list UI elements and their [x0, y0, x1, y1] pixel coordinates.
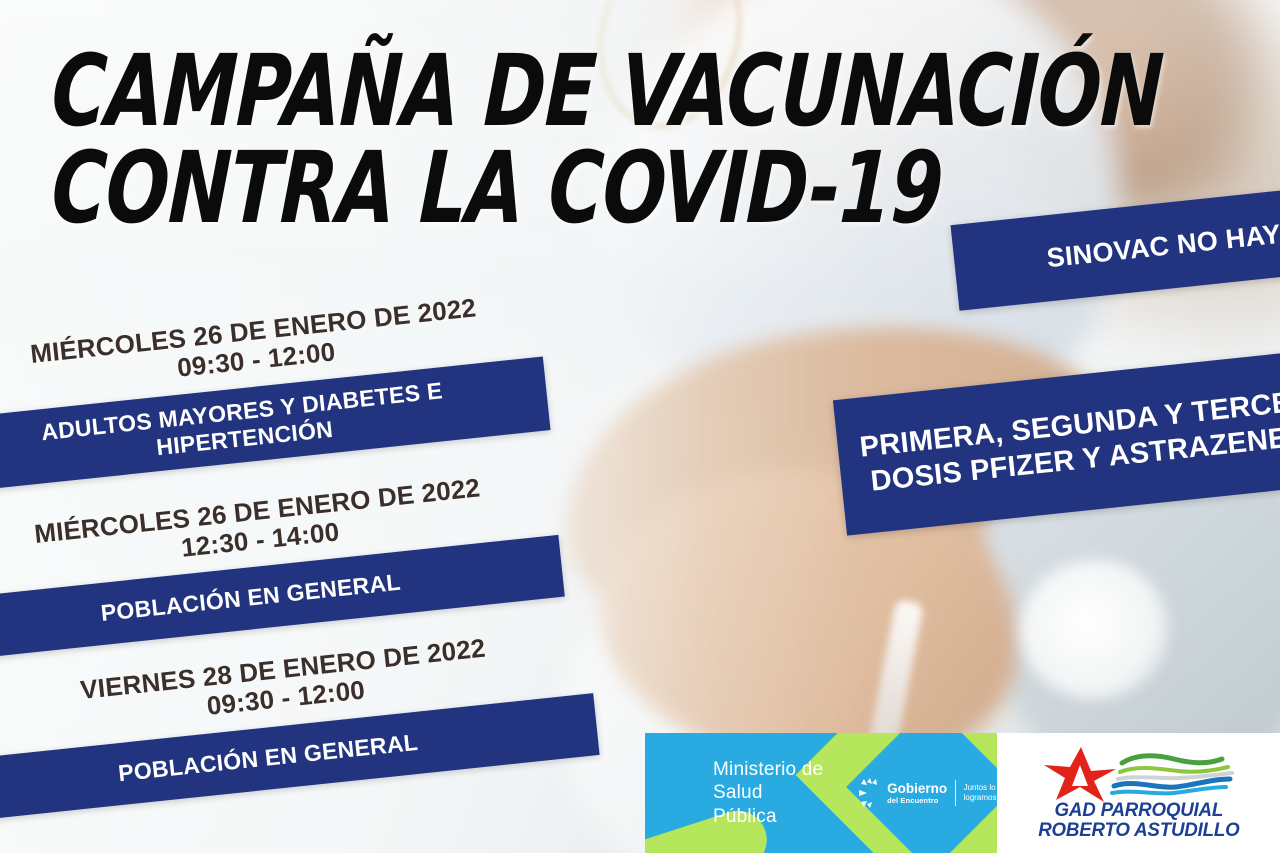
gad-name-line-2: ROBERTO ASTUDILLO	[1038, 821, 1239, 841]
government-lockup: Gobierno del Encuentro Juntos lo logramo…	[856, 778, 997, 808]
gad-parroquial-panel: GAD PARROQUIAL ROBERTO ASTUDILLO	[997, 733, 1280, 853]
title-line-1: CAMPAÑA DE VACUNACIÓN	[50, 44, 1165, 139]
title-line-2: CONTRA LA COVID-19	[50, 141, 1165, 236]
government-title: Gobierno	[887, 782, 947, 796]
lockup-divider	[955, 780, 956, 806]
poster-title: CAMPAÑA DE VACUNACIÓN CONTRA LA COVID-19	[52, 44, 1280, 236]
vaccination-campaign-poster: CAMPAÑA DE VACUNACIÓN CONTRA LA COVID-19…	[0, 0, 1280, 853]
schedule-audience-3: POBLACIÓN EN GENERAL	[95, 727, 441, 790]
government-arrows-icon	[856, 778, 882, 808]
footer-logos: Ministerio de Salud Pública	[645, 733, 1280, 853]
gad-wordmark: GAD PARROQUIAL ROBERTO ASTUDILLO	[1038, 801, 1239, 841]
government-wordmark: Gobierno del Encuentro	[887, 782, 947, 804]
doses-notice-text: PRIMERA, SEGUNDA Y TERCERA DOSIS PFIZER …	[836, 379, 1280, 503]
government-tagline: Juntos lo logramos	[964, 783, 997, 803]
gad-star-waves-icon	[1034, 745, 1244, 803]
ministry-of-health-panel: Ministerio de Salud Pública	[645, 733, 997, 853]
government-subtitle: del Encuentro	[887, 797, 947, 805]
gad-name-line-1: GAD PARROQUIAL	[1038, 801, 1239, 821]
schedule-audience-2: POBLACIÓN EN GENERAL	[78, 567, 424, 630]
ministry-name: Ministerio de Salud Pública	[713, 758, 830, 828]
